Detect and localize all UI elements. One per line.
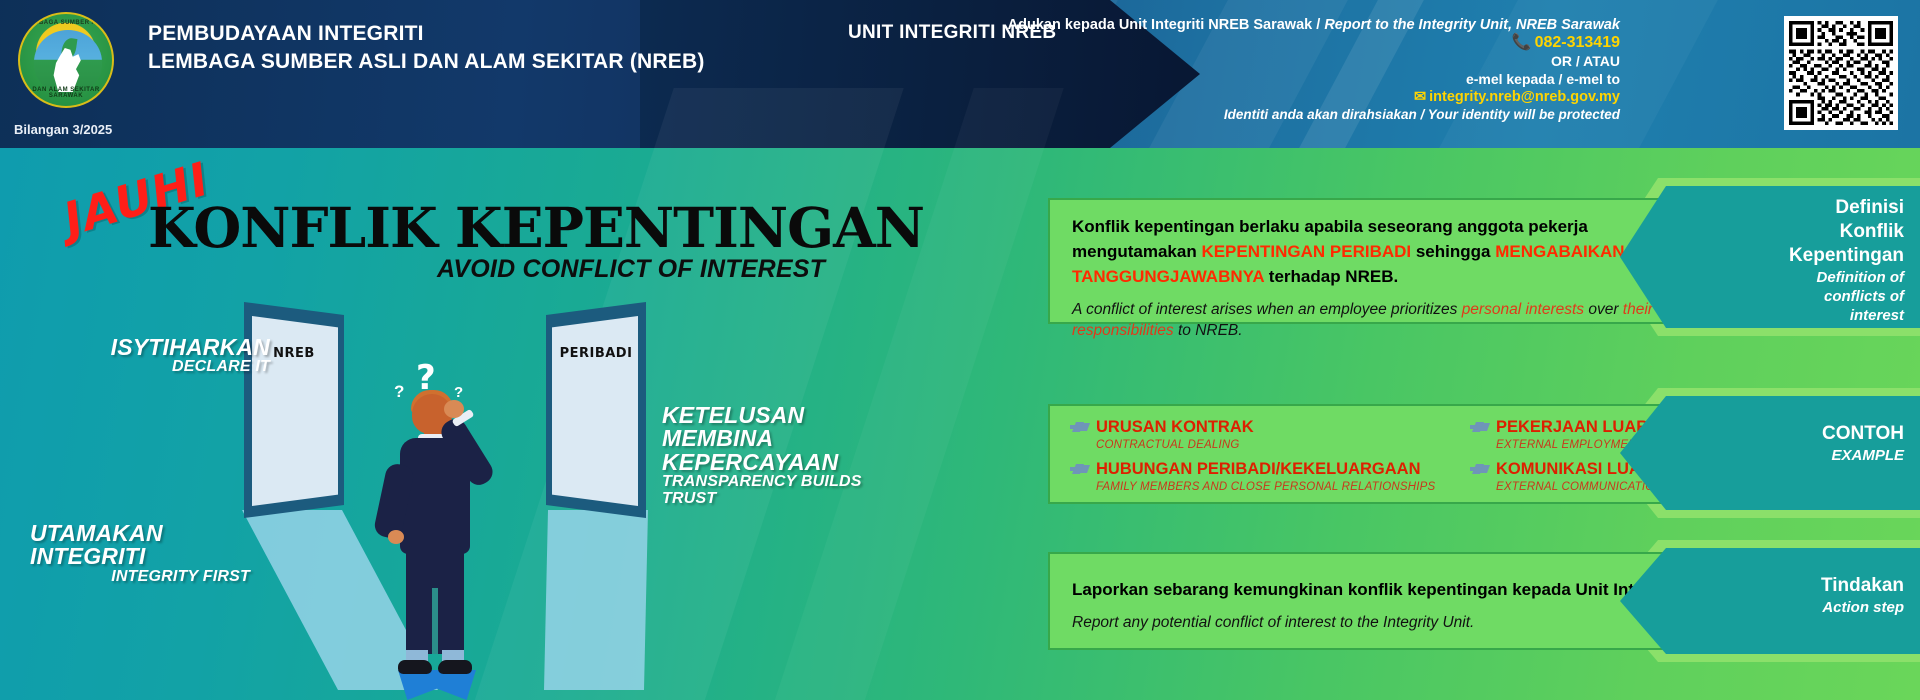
example-item: HUBUNGAN PERIBADI/KEKELUARGAAN FAMILY ME… (1070, 460, 1470, 495)
caption-transparency-en: TRANSPARENCY BUILDS TRUST (662, 474, 902, 507)
email-label: e-mel kepada / e-mel to (1008, 70, 1620, 88)
caption-integrity: UTAMAKAN INTEGRITI INTEGRITY FIRST (30, 522, 250, 585)
report-line-separator: / (1316, 17, 1320, 33)
person-hand-on-head (444, 400, 464, 418)
example-item: URUSAN KONTRAK CONTRACTUAL DEALING (1070, 418, 1470, 453)
infographic-poster: LEMBAGA SUMBER ASLI DAN ALAM SEKITAR SAR… (0, 0, 1920, 700)
issue-number: Bilangan 3/2025 (14, 122, 112, 137)
logo-ring-top-text: LEMBAGA SUMBER ASLI (20, 20, 112, 26)
caption-declare-ms: ISYTIHARKAN (110, 336, 270, 359)
caption-declare-en: DECLARE IT (110, 359, 270, 375)
tab-definition[interactable]: Definisi Konflik Kepentingan Definition … (1620, 186, 1920, 328)
card-definition-body: Konflik kepentingan berlaku apabila sese… (1072, 214, 1708, 341)
tab-action-en: Action step (1674, 598, 1904, 617)
caption-integrity-ms: UTAMAKAN INTEGRITI (30, 522, 250, 569)
example-item-text: URUSAN KONTRAK CONTRACTUAL DEALING (1096, 418, 1254, 453)
logo-ring-bottom-text: DAN ALAM SEKITAR SARAWAK (20, 87, 112, 99)
tab-example-ms: CONTOH (1674, 422, 1904, 446)
examples-grid: URUSAN KONTRAK CONTRACTUAL DEALING PEKER… (1070, 418, 1712, 495)
header-title-line2: LEMBAGA SUMBER ASLI DAN ALAM SEKITAR (NR… (148, 48, 705, 76)
email-address: integrity.nreb@nreb.gov.my (1429, 89, 1620, 105)
example-2-ms: PEKERJAAN LUAR (1496, 418, 1648, 437)
header-title-block: PEMBUDAYAAN INTEGRITI LEMBAGA SUMBER ASL… (148, 20, 705, 76)
tab-definition-en-line1: Definition of (1674, 268, 1904, 287)
speed-lines-icon (1470, 418, 1496, 434)
caption-transparency-ms-line1: KETELUSAN MEMBINA (662, 404, 902, 451)
door-peribadi: PERIBADI (546, 302, 646, 518)
hero-subtitle: AVOID CONFLICT OF INTEREST (437, 255, 825, 284)
person-shoe-left (398, 660, 432, 674)
card-definition-en: A conflict of interest arises when an em… (1072, 299, 1708, 341)
caption-integrity-en: INTEGRITY FIRST (30, 569, 250, 585)
example-1-ms: URUSAN KONTRAK (1096, 418, 1254, 437)
tab-definition-ms-line3: Kepentingan (1674, 244, 1904, 268)
speed-lines-icon (1070, 460, 1096, 476)
hero-title: KONFLIK KEPENTINGAN (148, 195, 924, 260)
tab-example-en: EXAMPLE (1674, 446, 1904, 465)
example-3-ms: HUBUNGAN PERIBADI/KEKELUARGAAN (1096, 460, 1435, 479)
door-panel (552, 316, 638, 506)
tab-definition-en-line3: interest (1674, 306, 1904, 325)
nreb-logo: LEMBAGA SUMBER ASLI DAN ALAM SEKITAR SAR… (18, 12, 114, 108)
action-en: Report any potential conflict of interes… (1072, 614, 1708, 632)
caption-transparency: KETELUSAN MEMBINA KEPERCAYAAN TRANSPAREN… (662, 404, 902, 507)
header-title-line1: PEMBUDAYAAN INTEGRITI (148, 20, 705, 48)
definition-en-part2: over (1584, 301, 1623, 318)
report-line-ms: Adukan kepada Unit Integriti NREB Sarawa… (1008, 17, 1313, 33)
tab-example[interactable]: CONTOH EXAMPLE (1620, 396, 1920, 510)
tab-definition-en-line2: conflicts of (1674, 287, 1904, 306)
tab-definition-ms-line1: Definisi (1674, 196, 1904, 220)
envelope-icon: ✉ (1414, 89, 1426, 105)
speed-lines-icon (1070, 418, 1096, 434)
phone-line[interactable]: 📞082-313419 (1008, 34, 1620, 52)
report-line-en: Report to the Integrity Unit, NREB Saraw… (1324, 17, 1620, 33)
example-1-en: CONTRACTUAL DEALING (1096, 437, 1254, 453)
door-peribadi-label: PERIBADI (546, 346, 646, 361)
speed-lines-icon (1470, 460, 1496, 476)
report-line: Adukan kepada Unit Integriti NREB Sarawa… (1008, 16, 1620, 34)
question-mark-small-icon: ? (394, 382, 404, 402)
phone-icon: 📞 (1512, 34, 1532, 51)
caption-declare: ISYTIHARKAN DECLARE IT (110, 336, 270, 376)
doors-illustration: NREB PERIBADI ? ? ? (240, 288, 650, 700)
definition-en-part1: A conflict of interest arises when an em… (1072, 301, 1462, 318)
card-action-body: Laporkan sebarang kemungkinan konflik ke… (1072, 578, 1708, 632)
definition-ms-part2: sehingga (1411, 242, 1495, 261)
or-label: OR / ATAU (1008, 52, 1620, 70)
action-ms: Laporkan sebarang kemungkinan konflik ke… (1072, 578, 1708, 602)
tab-definition-ms-line2: Konflik (1674, 220, 1904, 244)
tab-action[interactable]: Tindakan Action step (1620, 548, 1920, 654)
person-shoe-right (438, 660, 472, 674)
definition-ms-red1: KEPENTINGAN PERIBADI (1201, 242, 1411, 261)
header-bar: LEMBAGA SUMBER ASLI DAN ALAM SEKITAR SAR… (0, 0, 1920, 148)
qr-code-image (1789, 21, 1893, 125)
definition-en-part3: to NREB. (1174, 322, 1243, 339)
phone-number: 082-313419 (1535, 34, 1620, 51)
identity-protected-note: Identiti anda akan dirahsiakan / Your id… (1008, 106, 1620, 124)
caption-transparency-ms-line2: KEPERCAYAAN (662, 451, 902, 474)
definition-en-red1: personal interests (1462, 301, 1584, 318)
card-definition-ms: Konflik kepentingan berlaku apabila sese… (1072, 214, 1708, 289)
example-item-text: HUBUNGAN PERIBADI/KEKELUARGAAN FAMILY ME… (1096, 460, 1435, 495)
example-3-en: FAMILY MEMBERS AND CLOSE PERSONAL RELATI… (1096, 479, 1435, 495)
confused-person-figure: ? ? ? (372, 378, 500, 678)
person-hand-on-hip (388, 530, 404, 544)
question-mark-small-icon: ? (454, 384, 463, 401)
email-line[interactable]: ✉integrity.nreb@nreb.gov.my (1008, 88, 1620, 106)
contact-block: Adukan kepada Unit Integriti NREB Sarawa… (1008, 16, 1620, 124)
definition-ms-part3: terhadap NREB. (1264, 267, 1398, 286)
tab-action-ms: Tindakan (1674, 574, 1904, 598)
qr-code[interactable] (1784, 16, 1898, 130)
person-leg-gap (432, 588, 438, 654)
